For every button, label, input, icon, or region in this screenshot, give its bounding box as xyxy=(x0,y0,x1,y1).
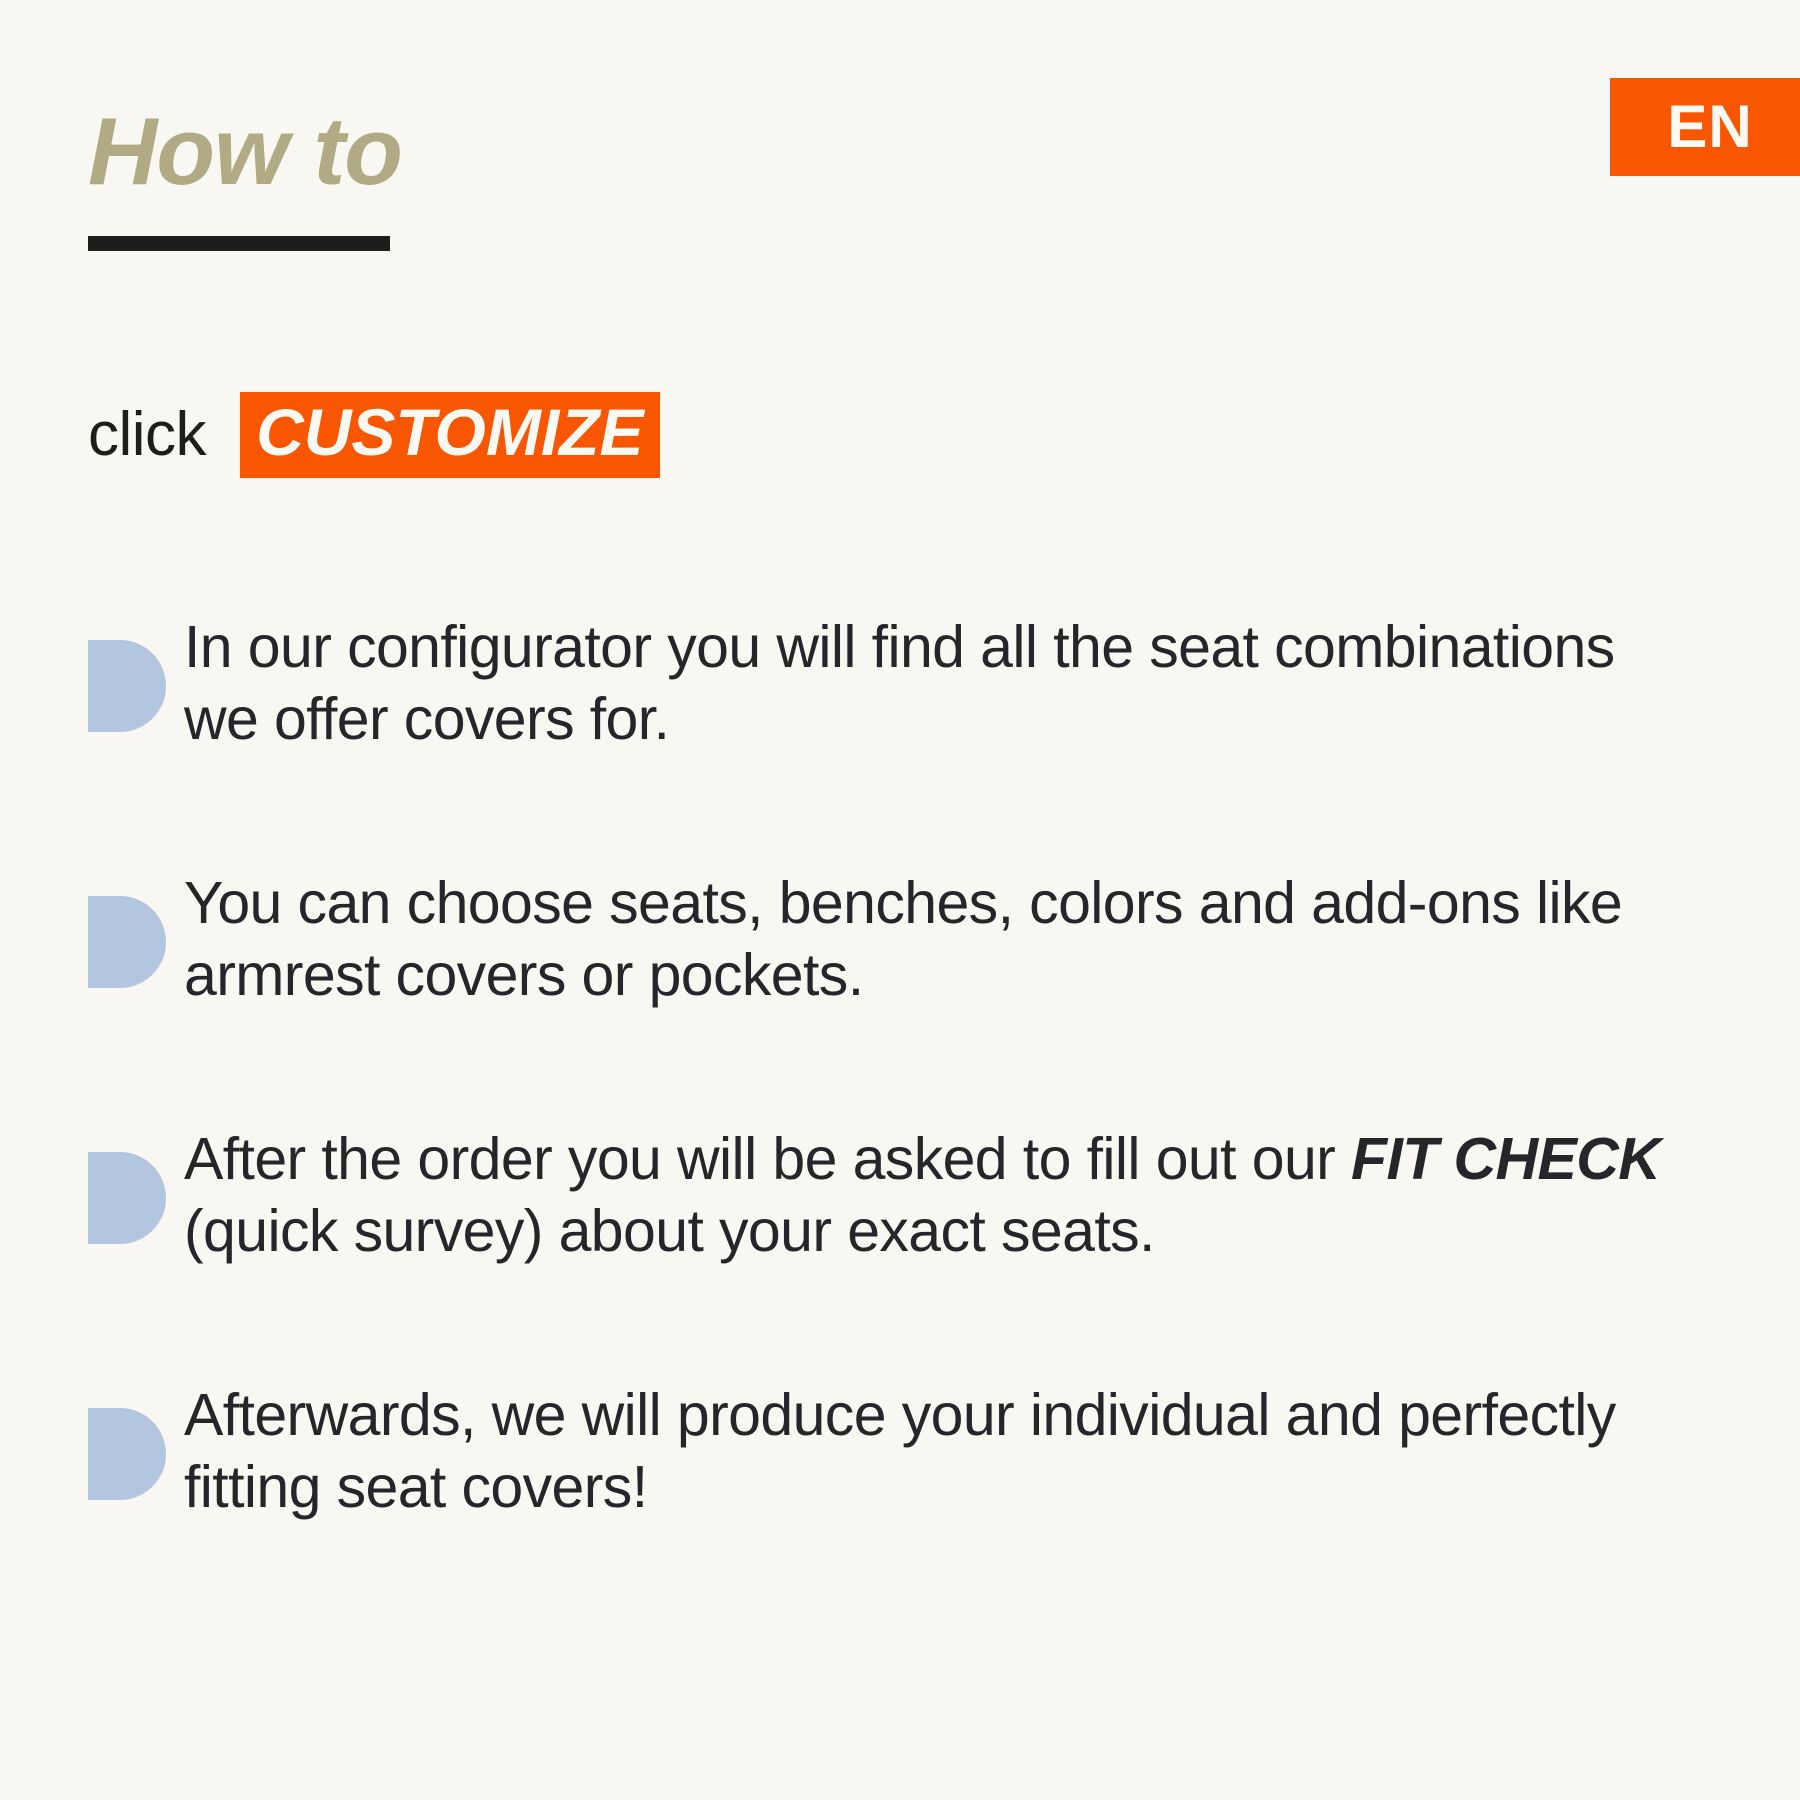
half-circle-marker-icon xyxy=(88,1152,166,1244)
list-item-emphasis: FIT CHECK xyxy=(1351,1126,1660,1192)
how-to-card: EN How to click CUSTOMIZE In our configu… xyxy=(0,0,1800,1800)
half-circle-marker-icon xyxy=(88,1408,166,1500)
language-badge[interactable]: EN xyxy=(1610,78,1800,176)
title-underline-rule xyxy=(88,236,390,251)
cta-line: click CUSTOMIZE xyxy=(88,392,660,478)
list-item: Afterwards, we will produce your individ… xyxy=(88,1380,1688,1524)
cta-prefix-label: click xyxy=(88,404,206,466)
list-item: In our configurator you will find all th… xyxy=(88,612,1688,756)
page-title: How to xyxy=(88,104,402,200)
list-item-text: In our configurator you will find all th… xyxy=(184,612,1688,756)
customize-button-label: CUSTOMIZE xyxy=(256,395,643,469)
language-badge-label: EN xyxy=(1667,97,1752,157)
customize-button[interactable]: CUSTOMIZE xyxy=(240,392,659,478)
list-item-text-before: After the order you will be asked to fil… xyxy=(184,1126,1351,1192)
list-item: You can choose seats, benches, colors an… xyxy=(88,868,1688,1012)
list-item-text-before: You can choose seats, benches, colors an… xyxy=(184,870,1622,1008)
list-item-text-after: (quick survey) about your exact seats. xyxy=(184,1198,1155,1264)
list-item-text: You can choose seats, benches, colors an… xyxy=(184,868,1688,1012)
list-item: After the order you will be asked to fil… xyxy=(88,1124,1688,1268)
list-item-text: Afterwards, we will produce your individ… xyxy=(184,1380,1688,1524)
list-item-text-before: Afterwards, we will produce your individ… xyxy=(184,1382,1616,1520)
half-circle-marker-icon xyxy=(88,640,166,732)
list-item-text: After the order you will be asked to fil… xyxy=(184,1124,1688,1268)
half-circle-marker-icon xyxy=(88,896,166,988)
title-block: How to xyxy=(88,104,402,251)
list-item-text-before: In our configurator you will find all th… xyxy=(184,614,1615,752)
instruction-list: In our configurator you will find all th… xyxy=(88,612,1688,1524)
